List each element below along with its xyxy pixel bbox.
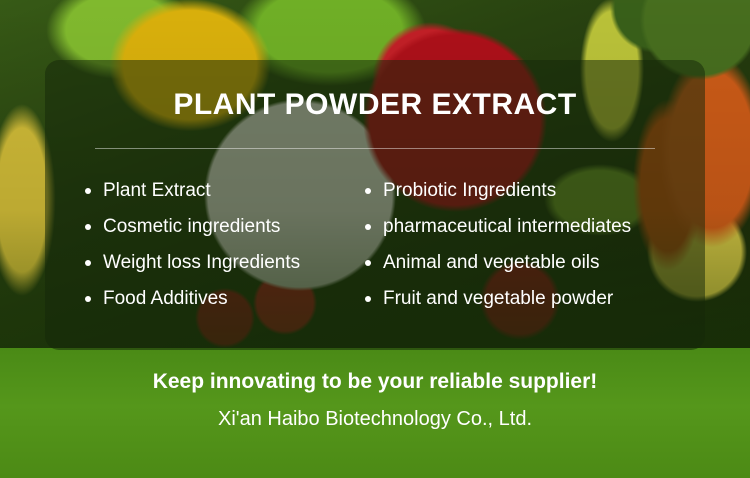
category-label: Plant Extract (103, 173, 211, 209)
bullet-dot-icon (85, 260, 91, 266)
list-item: Plant Extract (85, 173, 355, 209)
bullet-dot-icon (365, 260, 371, 266)
category-label: Food Additives (103, 281, 228, 317)
bullet-dot-icon (365, 296, 371, 302)
slogan-text: Keep innovating to be your reliable supp… (0, 370, 750, 394)
category-label: Animal and vegetable oils (383, 245, 600, 281)
bullet-dot-icon (85, 224, 91, 230)
list-item: Fruit and vegetable powder (365, 281, 705, 317)
company-name: Xi'an Haibo Biotechnology Co., Ltd. (0, 408, 750, 431)
category-label: Fruit and vegetable powder (383, 281, 613, 317)
category-list-left: Plant Extract Cosmetic ingredients Weigh… (85, 173, 355, 317)
category-column-left: Plant Extract Cosmetic ingredients Weigh… (45, 173, 355, 317)
product-banner: PLANT POWDER EXTRACT Plant Extract Cosme… (0, 0, 750, 478)
bullet-dot-icon (365, 188, 371, 194)
banner-title: PLANT POWDER EXTRACT (45, 60, 705, 122)
list-item: Cosmetic ingredients (85, 209, 355, 245)
category-label: Probiotic Ingredients (383, 173, 556, 209)
category-label: Cosmetic ingredients (103, 209, 280, 245)
list-item: pharmaceutical intermediates (365, 209, 705, 245)
list-item: Weight loss Ingredients (85, 245, 355, 281)
category-list-right: Probiotic Ingredients pharmaceutical int… (365, 173, 705, 317)
list-item: Probiotic Ingredients (365, 173, 705, 209)
content-card: PLANT POWDER EXTRACT Plant Extract Cosme… (45, 60, 705, 350)
list-item: Food Additives (85, 281, 355, 317)
product-category-lists: Plant Extract Cosmetic ingredients Weigh… (45, 149, 705, 317)
list-item: Animal and vegetable oils (365, 245, 705, 281)
category-label: Weight loss Ingredients (103, 245, 300, 281)
category-label: pharmaceutical intermediates (383, 209, 631, 245)
bullet-dot-icon (85, 296, 91, 302)
bullet-dot-icon (85, 188, 91, 194)
category-column-right: Probiotic Ingredients pharmaceutical int… (355, 173, 705, 317)
bullet-dot-icon (365, 224, 371, 230)
